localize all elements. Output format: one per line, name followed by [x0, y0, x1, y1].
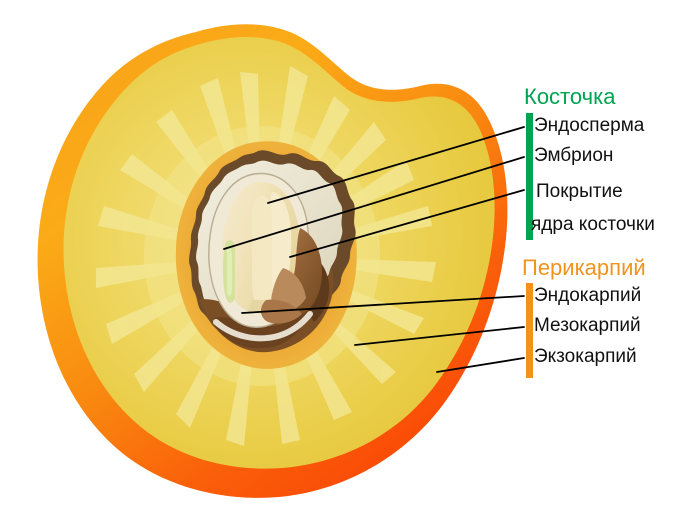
- label-stone-1: Эмбрион: [534, 145, 613, 167]
- label-pericarp-1: Мезокарпий: [534, 315, 641, 337]
- group-heading-pericarp: Перикарпий: [522, 255, 646, 281]
- diagram-canvas: КосточкаЭндоспермаЭмбрионПокрытиеядра ко…: [0, 0, 686, 512]
- group-heading-stone: Косточка: [524, 84, 615, 110]
- group-bracket-bars: [526, 113, 533, 378]
- group-bracket-bar-pericarp: [526, 283, 533, 378]
- label-pericarp-0: Эндокарпий: [534, 285, 641, 307]
- label-stone-0: Эндосперма: [534, 115, 644, 137]
- label-stone-3: ядра косточки: [531, 214, 655, 236]
- label-pericarp-2: Экзокарпий: [534, 346, 637, 368]
- label-stone-2: Покрытие: [536, 181, 623, 203]
